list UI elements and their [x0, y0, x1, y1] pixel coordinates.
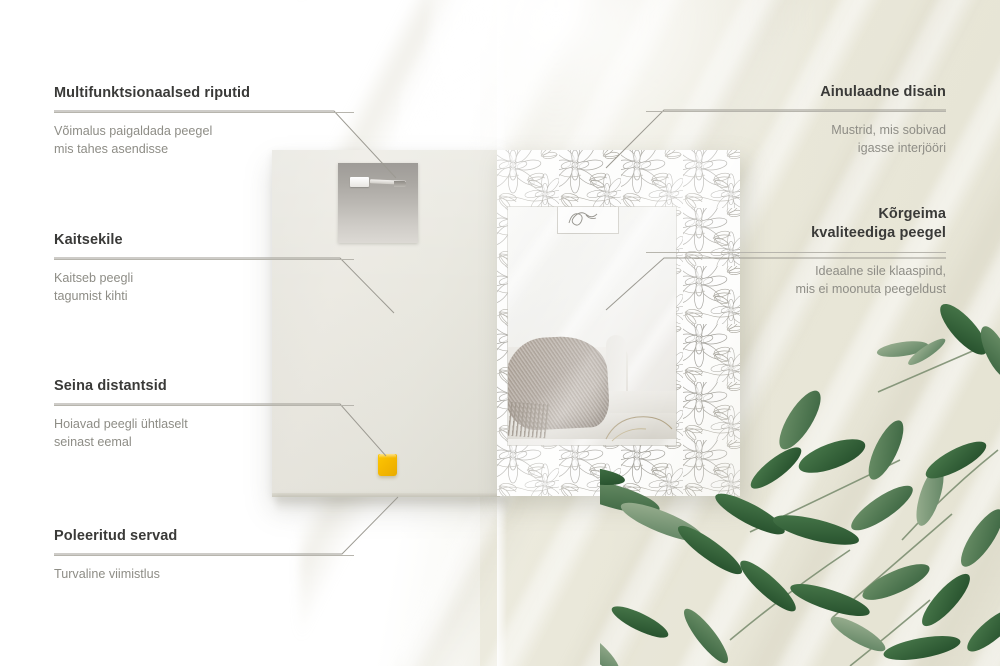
reflected-wall-art-scribble-icon [564, 209, 608, 229]
callout-title: Poleeritud servad [54, 527, 354, 546]
wall-spacer [378, 454, 397, 476]
callout-title: Kõrgeima kvaliteediga peegel [646, 205, 946, 243]
callout-description: Kaitseb peegli tagumist kihti [54, 269, 354, 306]
callout-poleeritud-servad: Poleeritud servad Turvaline viimistlus [54, 527, 354, 583]
callout-description: Võimalus paigaldada peegel mis tahes ase… [54, 122, 354, 159]
callout-description: Mustrid, mis sobivad igasse interjööri [646, 121, 946, 158]
hanger-tip [394, 181, 406, 187]
callout-title: Ainulaadne disain [646, 83, 946, 102]
callout-kaitsekile: Kaitsekile Kaitseb peegli tagumist kihti [54, 231, 354, 305]
hanger-block [350, 177, 369, 187]
hanger-bracket-icon [350, 176, 406, 188]
floral-pattern-mirror [497, 150, 740, 496]
infographic-stage: Multifunktsionaalsed riputid Võimalus pa… [0, 0, 1000, 666]
callout-title: Kaitsekile [54, 231, 354, 250]
callout-rule [646, 252, 946, 253]
callout-rule [54, 112, 354, 113]
callout-korgeima-kvaliteediga-peegel: Kõrgeima kvaliteediga peegel Ideaalne si… [646, 205, 946, 298]
throw-fringe [508, 402, 549, 439]
callout-title: Multifunktsionaalsed riputid [54, 84, 354, 103]
callout-rule [54, 259, 354, 260]
callout-description: Ideaalne sile klaaspind, mis ei moonuta … [646, 262, 946, 299]
callout-rule [54, 555, 354, 556]
callout-rule [54, 405, 354, 406]
callout-seina-distantsid: Seina distantsid Hoiavad peegli ühtlasel… [54, 377, 354, 451]
callout-description: Hoiavad peegli ühtlaselt seinast eemal [54, 415, 354, 452]
callout-multifunktsionaalsed-riputid: Multifunktsionaalsed riputid Võimalus pa… [54, 84, 354, 158]
callout-ainulaadne-disain: Ainulaadne disain Mustrid, mis sobivad i… [646, 83, 946, 157]
callout-description: Turvaline viimistlus [54, 565, 354, 583]
reflected-wire-decor-icon [604, 405, 676, 443]
callout-title: Seina distantsid [54, 377, 354, 396]
callout-rule [646, 111, 946, 112]
back-panel-floor-shadow [276, 496, 508, 512]
